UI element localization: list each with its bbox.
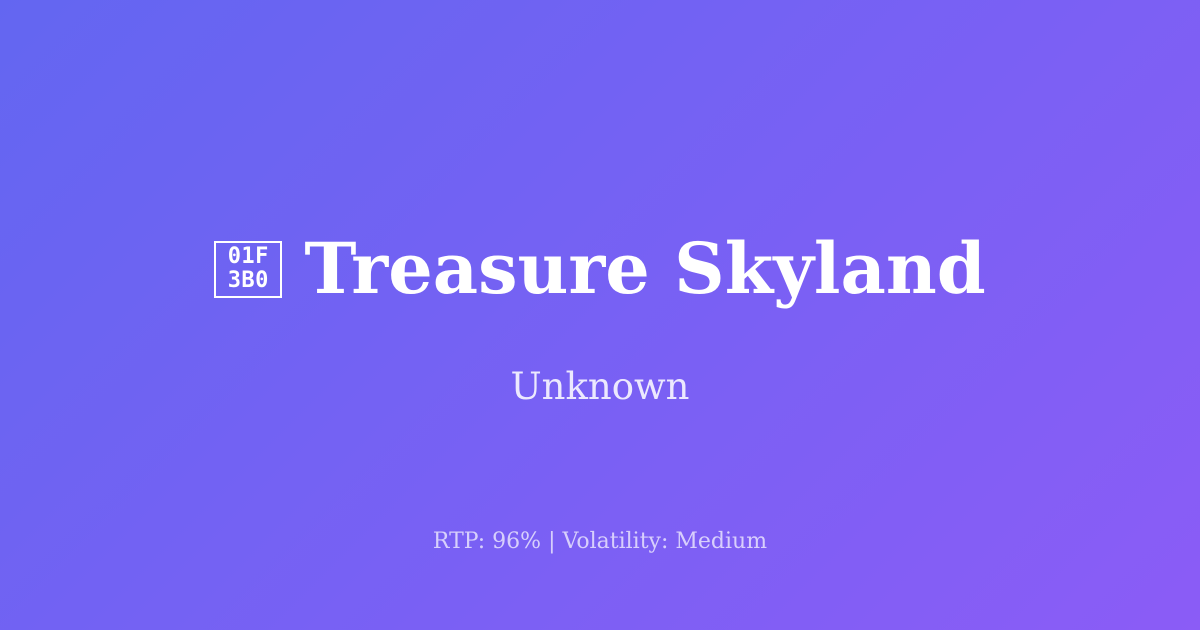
game-meta-line: RTP: 96% | Volatility: Medium [0, 528, 1200, 556]
page-title: Treasure Skyland [304, 233, 985, 305]
tofu-codepoint-top: 01F [228, 245, 269, 269]
title-row: 01F 3B0 Treasure Skyland [0, 233, 1200, 305]
slot-machine-emoji-icon: 01F 3B0 [214, 241, 282, 298]
tofu-codepoint-bottom: 3B0 [228, 269, 269, 293]
og-card: 01F 3B0 Treasure Skyland Unknown RTP: 96… [0, 0, 1200, 630]
subtitle: Unknown [0, 365, 1200, 409]
